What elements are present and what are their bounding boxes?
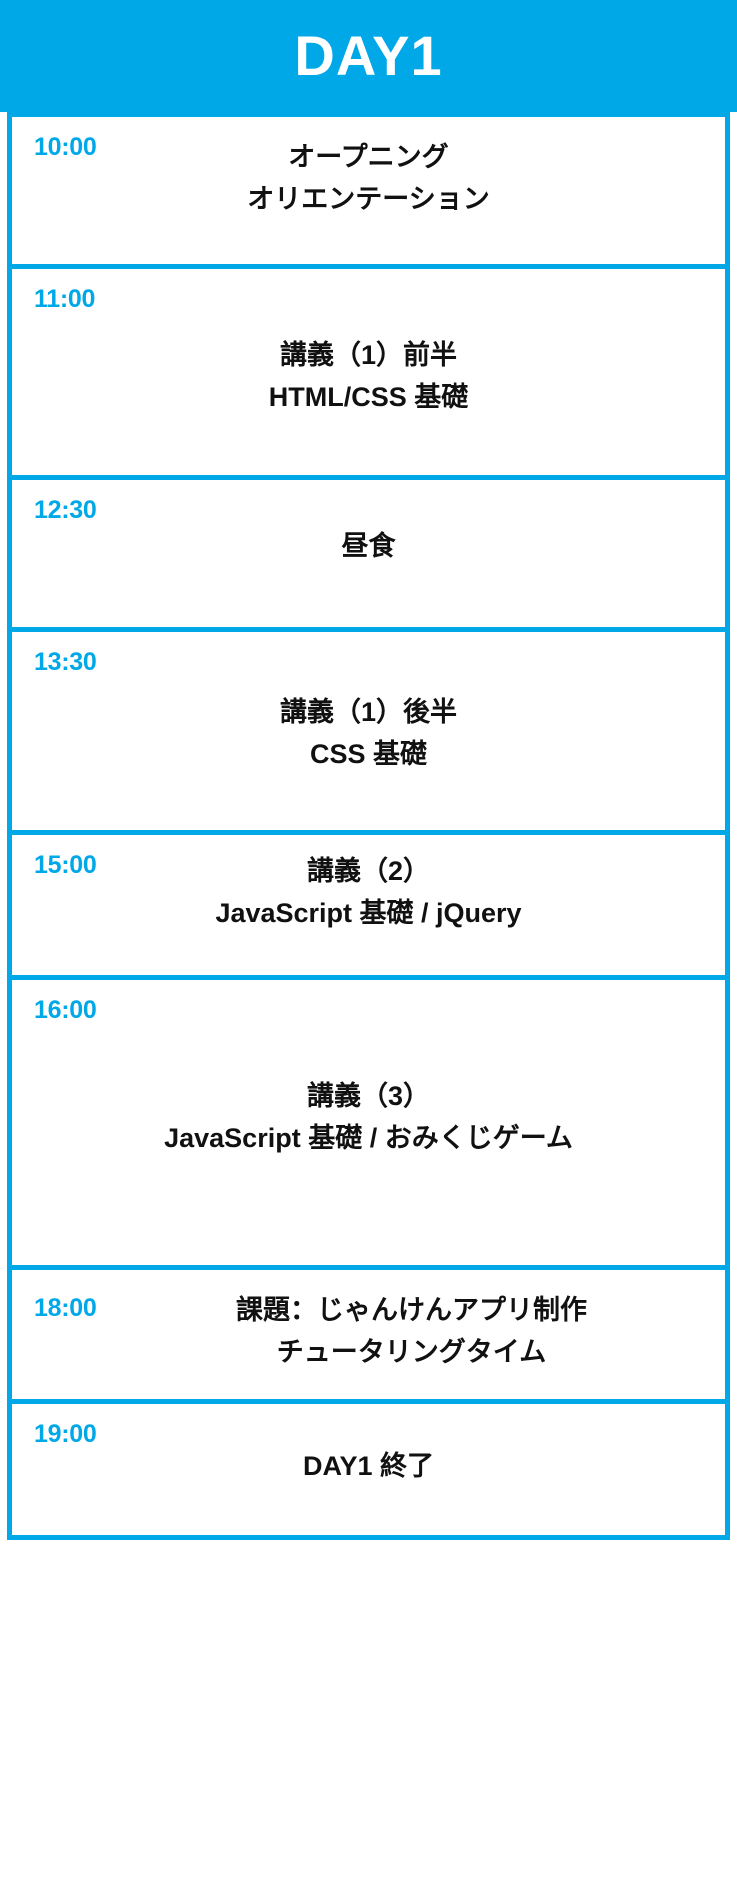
- row-time-label: 11:00: [34, 287, 95, 312]
- schedule-row-lecture-3[interactable]: 16:00 講義（3） JavaScript 基礎 / おみくじゲーム: [7, 975, 730, 1265]
- row-content: オープニング オリエンテーション: [12, 117, 725, 264]
- row-content-line: DAY1 終了: [303, 1446, 434, 1488]
- row-time-label: 19:00: [34, 1422, 96, 1447]
- row-content: 課題：じゃんけんアプリ制作 チュータリングタイム: [12, 1270, 725, 1399]
- row-content-line: 講義（1）後半: [280, 692, 457, 734]
- row-time-label: 12:30: [34, 498, 96, 523]
- schedule-row-assignment[interactable]: 18:00 課題：じゃんけんアプリ制作 チュータリングタイム: [7, 1265, 730, 1399]
- row-content-line: HTML/CSS 基礎: [269, 377, 469, 419]
- schedule-row-lecture-1-second-half[interactable]: 13:30 講義（1）後半 CSS 基礎: [7, 627, 730, 830]
- row-time-label: 16:00: [34, 998, 96, 1023]
- row-content-line: CSS 基礎: [310, 734, 427, 776]
- schedule-row-end[interactable]: 19:00 DAY1 終了: [7, 1399, 730, 1540]
- row-content-line: オリエンテーション: [247, 179, 489, 221]
- row-content-line: 昼食: [342, 526, 396, 568]
- row-time-label: 18:00: [34, 1296, 96, 1321]
- row-content-line: 課題：じゃんけんアプリ制作: [236, 1290, 587, 1332]
- row-time-label: 10:00: [34, 135, 96, 160]
- day1-schedule-table: DAY1 10:00 オープニング オリエンテーション 11:00 講義（1）前…: [0, 0, 737, 1879]
- day-header: DAY1: [0, 0, 737, 112]
- row-content-line: オープニング: [288, 137, 448, 179]
- row-time-label: 13:30: [34, 650, 96, 675]
- row-time-label: 15:00: [34, 853, 96, 878]
- row-content-line: 講義（3）: [307, 1076, 430, 1118]
- row-content: 講義（3） JavaScript 基礎 / おみくじゲーム: [12, 980, 725, 1265]
- row-content: 昼食: [12, 480, 725, 627]
- schedule-row-opening[interactable]: 10:00 オープニング オリエンテーション: [7, 112, 730, 264]
- row-content: 講義（1）前半 HTML/CSS 基礎: [12, 269, 725, 475]
- schedule-rows: 10:00 オープニング オリエンテーション 11:00 講義（1）前半 HTM…: [0, 112, 737, 1879]
- page-title: DAY1: [294, 28, 442, 84]
- row-content-line: チュータリングタイム: [277, 1332, 546, 1374]
- row-content-line: 講義（1）前半: [280, 335, 457, 377]
- row-content: 講義（1）後半 CSS 基礎: [12, 632, 725, 830]
- row-content: DAY1 終了: [12, 1404, 725, 1535]
- row-content-line: 講義（2）: [307, 851, 430, 893]
- schedule-row-lecture-1-first-half[interactable]: 11:00 講義（1）前半 HTML/CSS 基礎: [7, 264, 730, 475]
- schedule-row-lunch[interactable]: 12:30 昼食: [7, 475, 730, 627]
- row-content: 講義（2） JavaScript 基礎 / jQuery: [12, 835, 725, 975]
- schedule-row-lecture-2[interactable]: 15:00 講義（2） JavaScript 基礎 / jQuery: [7, 830, 730, 975]
- row-content-line: JavaScript 基礎 / おみくじゲーム: [164, 1118, 573, 1160]
- row-content-line: JavaScript 基礎 / jQuery: [215, 893, 521, 935]
